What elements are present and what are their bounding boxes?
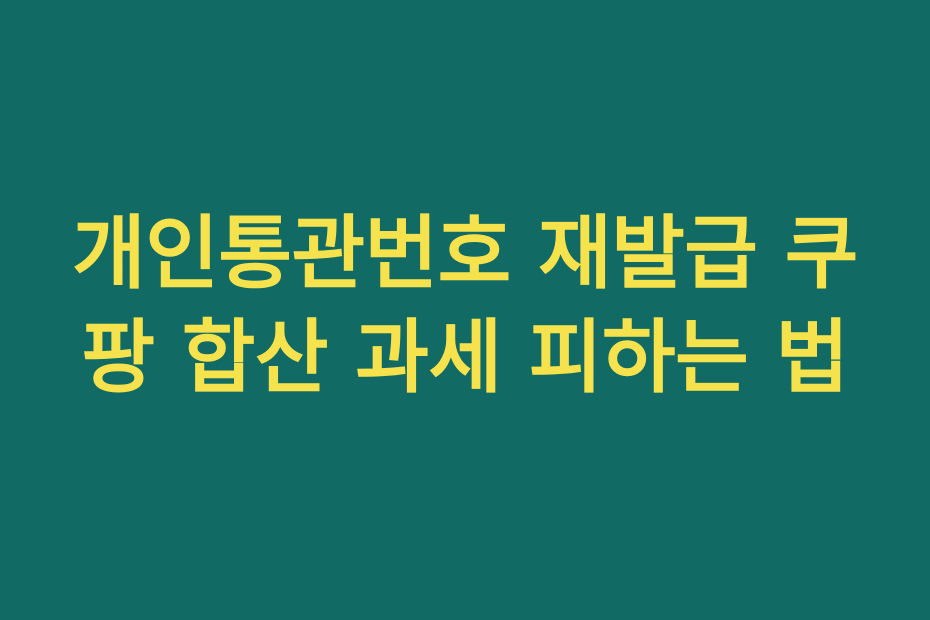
title-line-2: 팡 합산 과세 피하는 법 bbox=[56, 306, 874, 410]
title-line-1: 개인통관번호 재발급 쿠 bbox=[56, 202, 874, 306]
title-card: 개인통관번호 재발급 쿠 팡 합산 과세 피하는 법 bbox=[0, 0, 930, 620]
page-title: 개인통관번호 재발급 쿠 팡 합산 과세 피하는 법 bbox=[0, 202, 930, 410]
